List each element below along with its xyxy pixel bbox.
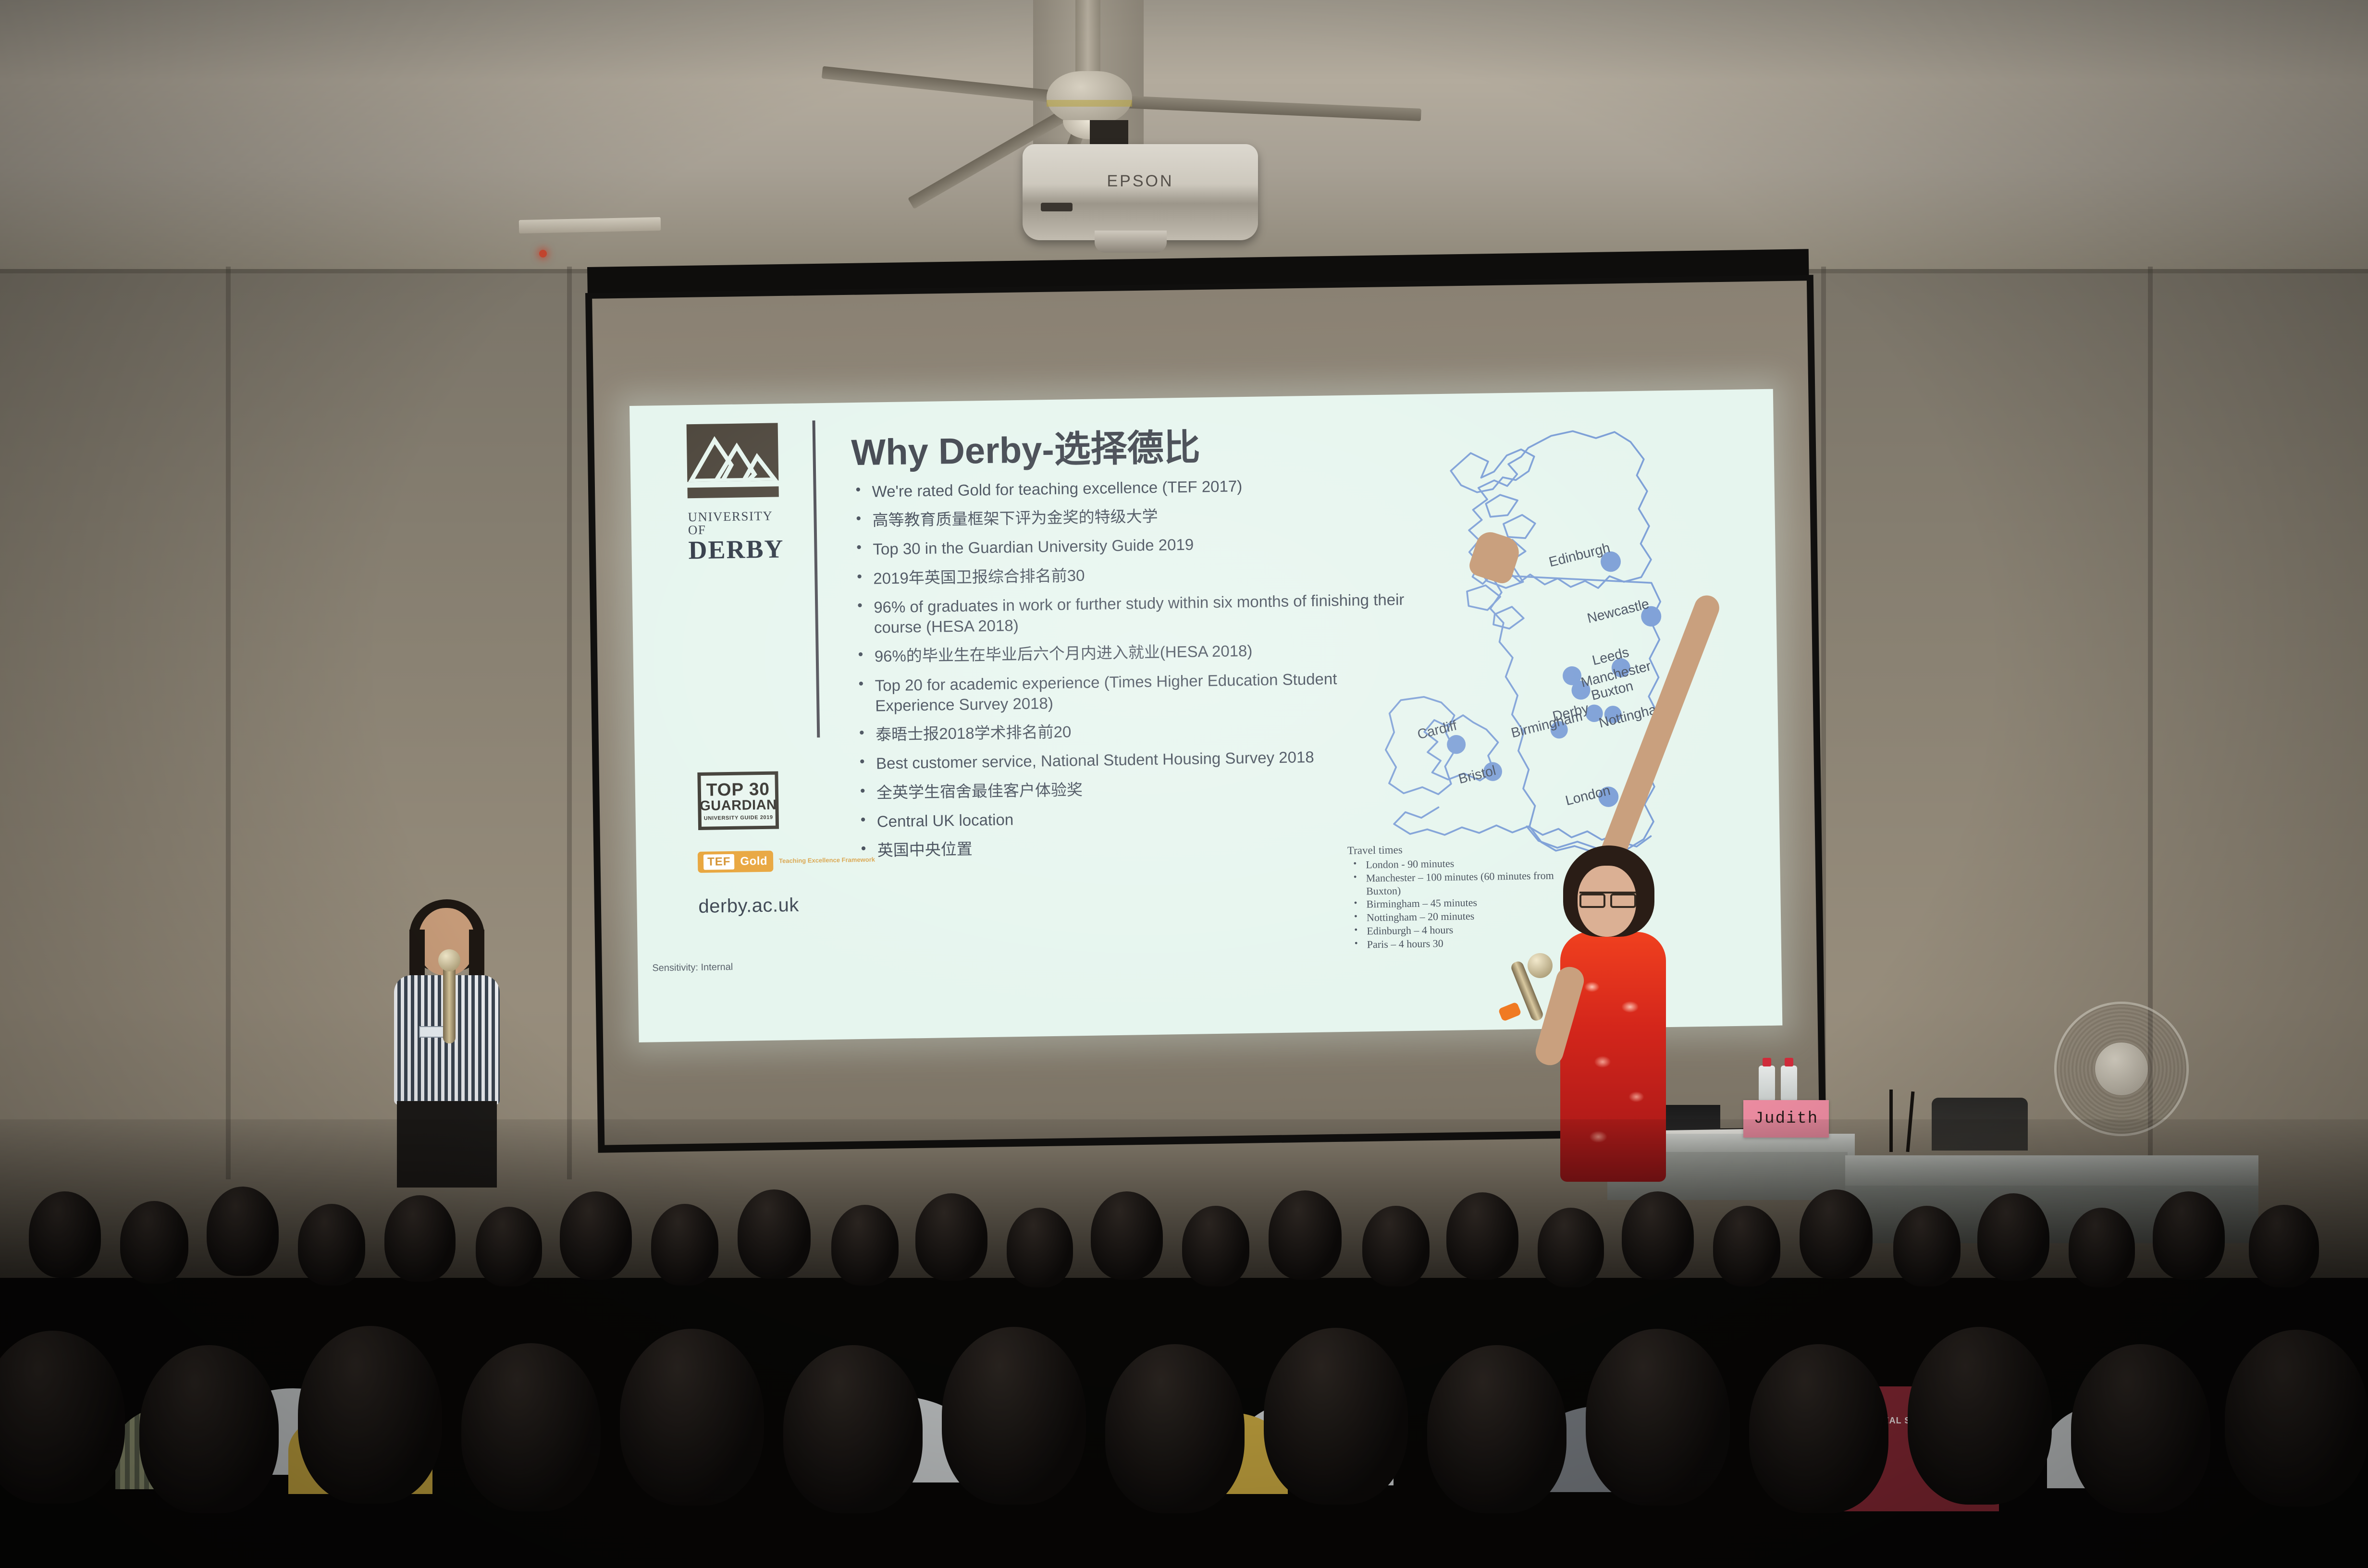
audience-head bbox=[1091, 1191, 1163, 1280]
audience-head bbox=[1269, 1190, 1342, 1280]
audience-head bbox=[1007, 1208, 1073, 1287]
projector-brand-label: EPSON bbox=[1023, 172, 1258, 191]
audience-head bbox=[1362, 1206, 1430, 1286]
audience-head-front bbox=[1264, 1328, 1408, 1505]
audience-head-front bbox=[139, 1345, 279, 1513]
audience-head bbox=[1622, 1191, 1694, 1280]
water-bottle bbox=[1759, 1066, 1775, 1101]
audience-head bbox=[298, 1204, 365, 1286]
projector-vent bbox=[1041, 203, 1073, 211]
audience-head bbox=[1977, 1193, 2049, 1281]
badge-top30-line2: GUARDIAN bbox=[700, 798, 777, 814]
logo-underline bbox=[688, 486, 779, 498]
bullet-item: 英国中央位置 bbox=[853, 833, 1420, 861]
audience-head bbox=[1182, 1206, 1249, 1286]
audience-head-front bbox=[783, 1345, 923, 1513]
slide-bullet-list: We're rated Gold for teaching excellence… bbox=[848, 474, 1420, 870]
audience-head bbox=[651, 1204, 718, 1286]
audience-head-front bbox=[2225, 1330, 2368, 1507]
audience-head bbox=[207, 1187, 279, 1276]
audience-head-front bbox=[1749, 1344, 1888, 1513]
logo-line-university: UNIVERSITY OF bbox=[688, 509, 789, 537]
audience-head bbox=[384, 1195, 456, 1282]
tef-gold-badge: TEF Gold Teaching Excellence Framework bbox=[698, 849, 876, 873]
audience-head bbox=[1446, 1192, 1518, 1280]
audience: ONLY REAL SOUND bbox=[0, 1119, 2368, 1568]
badge-top30-line1: TOP 30 bbox=[706, 780, 770, 799]
map-label-bristol: Bristol bbox=[1457, 763, 1497, 787]
pedestal-fan-hub bbox=[2095, 1042, 2148, 1095]
bullet-item: 2019年英国卫报综合排名前30 bbox=[849, 560, 1416, 589]
microphone-head bbox=[1528, 953, 1553, 978]
title-divider bbox=[812, 420, 820, 737]
audience-head bbox=[2069, 1208, 2135, 1287]
audience-head bbox=[560, 1191, 632, 1280]
ceiling-fan-hub bbox=[1047, 71, 1132, 124]
bullet-item: Top 30 in the Guardian University Guide … bbox=[849, 531, 1416, 560]
audience-head bbox=[120, 1201, 188, 1284]
audience-head-front bbox=[1105, 1344, 1245, 1513]
bullet-item: 96% of graduates in work or further stud… bbox=[850, 589, 1417, 638]
audience-head-front bbox=[461, 1343, 601, 1511]
wall-seam bbox=[226, 267, 231, 1179]
bullet-item: Top 20 for academic experience (Times Hi… bbox=[851, 667, 1418, 716]
lecture-hall-scene: EPSON UNIVERSITY OF DERBY bbox=[0, 0, 2368, 1568]
audience-head-front bbox=[942, 1327, 1086, 1505]
audience-head bbox=[29, 1191, 101, 1278]
top30-guardian-badge: TOP 30 GUARDIAN UNIVERSITY GUIDE 2019 bbox=[697, 771, 779, 830]
audience-head-front bbox=[1908, 1327, 2052, 1505]
ceiling-fan-rod bbox=[1075, 0, 1100, 77]
map-label-newcastle: Newcastle bbox=[1586, 596, 1651, 626]
audience-head-front bbox=[620, 1329, 764, 1506]
microphone-head bbox=[438, 949, 460, 971]
badge-top30-line3: UNIVERSITY GUIDE 2019 bbox=[704, 815, 773, 821]
tef-pill: TEF Gold bbox=[698, 851, 774, 873]
tef-mark: TEF bbox=[703, 854, 735, 870]
uk-outline-map: Edinburgh Newcastle Leeds Manchester Bux… bbox=[1379, 398, 1732, 884]
projector: EPSON bbox=[1023, 144, 1258, 240]
tef-rating: Gold bbox=[740, 855, 767, 869]
mountain-peaks-icon bbox=[687, 423, 779, 482]
tef-caption: Teaching Excellence Framework bbox=[779, 856, 875, 866]
audience-head bbox=[738, 1189, 811, 1279]
audience-head bbox=[2249, 1205, 2319, 1287]
bullet-item: We're rated Gold for teaching excellence… bbox=[848, 474, 1415, 502]
audience-head bbox=[1538, 1208, 1604, 1287]
slide-title: Why Derby-选择德比 bbox=[851, 417, 1201, 476]
audience-head bbox=[2153, 1191, 2225, 1280]
audience-head bbox=[1713, 1206, 1780, 1286]
audience-head-front bbox=[1586, 1329, 1730, 1506]
bullet-item: Best customer service, National Student … bbox=[852, 746, 1419, 774]
audience-head-front bbox=[2071, 1344, 2210, 1513]
university-logo: UNIVERSITY OF DERBY bbox=[687, 423, 789, 564]
sensitivity-label: Sensitivity: Internal bbox=[652, 962, 733, 974]
bullet-item: Central UK location bbox=[853, 804, 1420, 833]
bullet-item: 96%的毕业生在毕业后六个月内进入就业(HESA 2018) bbox=[850, 638, 1417, 667]
audience-head bbox=[1800, 1189, 1873, 1279]
ceiling-fan-trim bbox=[1047, 100, 1132, 107]
audience-head-front bbox=[1427, 1345, 1566, 1513]
audience-head bbox=[476, 1207, 542, 1286]
audience-head bbox=[915, 1193, 987, 1281]
logo-line-derby: DERBY bbox=[688, 535, 789, 564]
wall-seam bbox=[567, 267, 572, 1179]
bullet-item: 泰晤士报2018学术排名前20 bbox=[851, 717, 1418, 746]
glasses-icon bbox=[1579, 892, 1636, 902]
map-label-birmingham: Birmingham bbox=[1509, 709, 1584, 741]
indicator-light bbox=[539, 250, 547, 257]
audience-head-front bbox=[298, 1326, 442, 1504]
projector-lens bbox=[1095, 231, 1167, 253]
website-url: derby.ac.uk bbox=[698, 894, 799, 918]
audience-head bbox=[1893, 1206, 1961, 1286]
water-bottle bbox=[1781, 1066, 1797, 1101]
bullet-item: 全英学生宿舍最佳客户体验奖 bbox=[852, 774, 1419, 803]
bullet-item: 高等教育质量框架下评为金奖的特级大学 bbox=[848, 502, 1415, 531]
audience-head bbox=[831, 1205, 899, 1286]
